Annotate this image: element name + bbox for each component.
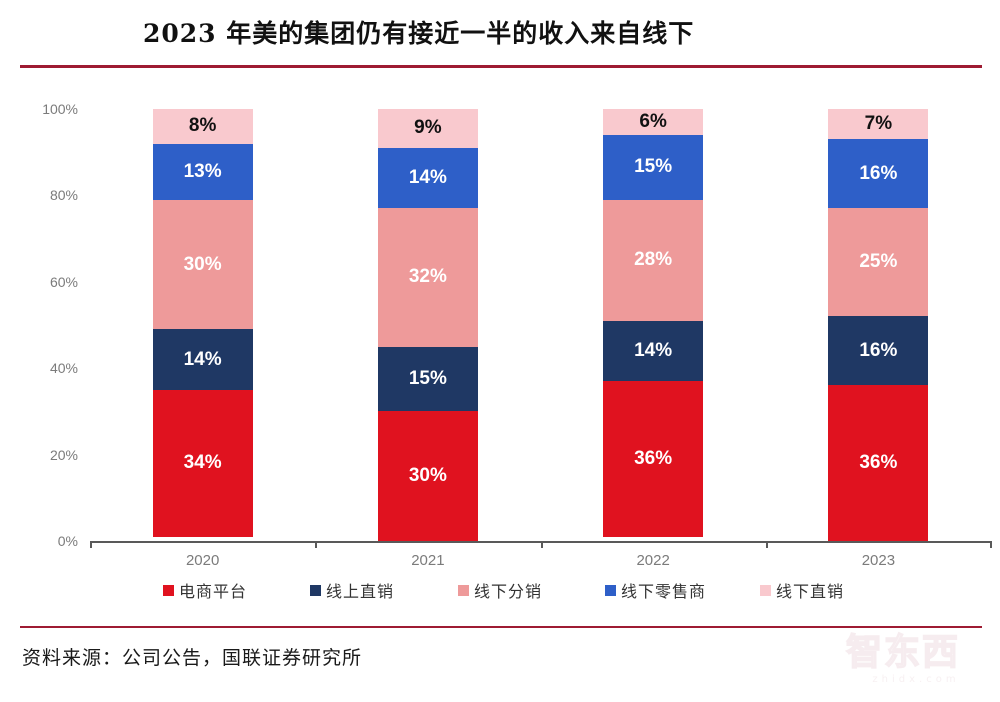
legend-swatch-icon (310, 585, 321, 596)
chart-legend: 电商平台线上直销线下分销线下零售商线下直销 (0, 578, 1000, 602)
bar-segment-label: 36% (634, 448, 672, 470)
bar-segment-2023-电商平台[interactable]: 36% (828, 385, 928, 541)
legend-label: 线下直销 (776, 578, 844, 602)
x-axis-tick (541, 541, 543, 548)
y-axis-tick-100: 100% (22, 101, 78, 117)
bar-segment-2022-线上直销[interactable]: 14% (603, 321, 703, 381)
y-axis-tick-0: 0% (22, 533, 78, 549)
bar-segment-label: 14% (184, 349, 222, 371)
bar-stack-2022[interactable]: 6%15%28%14%36% (603, 109, 703, 541)
watermark: 智东西 zhidx.com (846, 632, 986, 694)
y-axis-tick-60: 60% (22, 274, 78, 290)
watermark-text: 智东西 (846, 632, 986, 674)
page-title: 2023 年美的集团仍有接近一半的收入来自线下 (143, 14, 694, 50)
bar-segment-2021-线上直销[interactable]: 15% (378, 347, 478, 412)
x-axis-label-2022: 2022 (593, 552, 713, 569)
bar-segment-label: 14% (409, 167, 447, 189)
bar-segment-2022-线下分销[interactable]: 28% (603, 200, 703, 321)
bar-segment-label: 30% (184, 254, 222, 276)
source-note: 资料来源：公司公告，国联证券研究所 (22, 643, 362, 670)
legend-item-线上直销[interactable]: 线上直销 (310, 578, 394, 602)
bar-series-container: 8%13%30%14%34%9%14%32%15%30%6%15%28%14%3… (90, 70, 991, 541)
legend-label: 线下零售商 (621, 578, 706, 602)
bar-segment-2023-线下直销[interactable]: 7% (828, 109, 928, 139)
bar-segment-2023-线下分销[interactable]: 25% (828, 208, 928, 316)
y-axis-tick-20: 20% (22, 447, 78, 463)
bar-segment-label: 25% (859, 251, 897, 273)
x-axis-label-2021: 2021 (368, 552, 488, 569)
bar-segment-2020-线上直销[interactable]: 14% (153, 329, 253, 389)
bar-stack-2021[interactable]: 9%14%32%15%30% (378, 109, 478, 541)
bar-segment-label: 13% (184, 161, 222, 183)
bar-segment-2021-线下直销[interactable]: 9% (378, 109, 478, 148)
footer-divider (20, 626, 982, 628)
x-axis-label-2020: 2020 (143, 552, 263, 569)
legend-label: 线上直销 (326, 578, 394, 602)
bar-segment-label: 14% (634, 340, 672, 362)
bar-segment-2020-线下分销[interactable]: 30% (153, 200, 253, 330)
watermark-subtext: zhidx.com (846, 674, 986, 685)
bar-stack-2020[interactable]: 8%13%30%14%34% (153, 109, 253, 541)
title-divider (20, 65, 982, 68)
x-axis-tick (315, 541, 317, 548)
bar-segment-2023-线下零售商[interactable]: 16% (828, 139, 928, 208)
y-axis-tick-labels: 0%20%40%60%80%100% (22, 70, 78, 615)
bar-segment-label: 6% (639, 111, 666, 133)
bar-segment-label: 15% (634, 156, 672, 178)
bar-segment-2022-电商平台[interactable]: 36% (603, 381, 703, 537)
bar-segment-label: 28% (634, 249, 672, 271)
bar-segment-label: 32% (409, 266, 447, 288)
bar-segment-2022-线下直销[interactable]: 6% (603, 109, 703, 135)
bar-segment-2021-线下零售商[interactable]: 14% (378, 148, 478, 208)
bar-segment-2020-电商平台[interactable]: 34% (153, 390, 253, 537)
chart-plot-area: 0%20%40%60%80%100% 8%13%30%14%34%9%14%32… (0, 70, 1000, 615)
x-axis-tick (990, 541, 992, 548)
legend-item-线下直销[interactable]: 线下直销 (760, 578, 844, 602)
bar-segment-2020-线下零售商[interactable]: 13% (153, 144, 253, 200)
x-axis-label-2023: 2023 (818, 552, 938, 569)
bar-segment-label: 15% (409, 368, 447, 390)
bar-segment-label: 34% (184, 452, 222, 474)
legend-swatch-icon (458, 585, 469, 596)
legend-item-线下零售商[interactable]: 线下零售商 (605, 578, 706, 602)
legend-item-电商平台[interactable]: 电商平台 (163, 578, 247, 602)
bar-segment-2023-线上直销[interactable]: 16% (828, 316, 928, 385)
bar-segment-2022-线下零售商[interactable]: 15% (603, 135, 703, 200)
legend-label: 线下分销 (474, 578, 542, 602)
legend-item-线下分销[interactable]: 线下分销 (458, 578, 542, 602)
legend-swatch-icon (163, 585, 174, 596)
bar-segment-label: 9% (414, 117, 441, 139)
x-axis-tick (90, 541, 92, 548)
bar-segment-label: 16% (859, 340, 897, 362)
bar-stack-2023[interactable]: 7%16%25%16%36% (828, 109, 928, 541)
bar-segment-2021-电商平台[interactable]: 30% (378, 411, 478, 541)
bar-segment-label: 16% (859, 163, 897, 185)
y-axis-tick-40: 40% (22, 360, 78, 376)
x-axis-tick (766, 541, 768, 548)
legend-swatch-icon (605, 585, 616, 596)
bar-segment-label: 36% (859, 452, 897, 474)
bar-segment-label: 7% (865, 113, 892, 135)
y-axis-tick-80: 80% (22, 187, 78, 203)
bar-segment-2021-线下分销[interactable]: 32% (378, 208, 478, 346)
legend-swatch-icon (760, 585, 771, 596)
bar-segment-label: 8% (189, 115, 216, 137)
bar-segment-label: 30% (409, 465, 447, 487)
bar-segment-2020-线下直销[interactable]: 8% (153, 109, 253, 144)
legend-label: 电商平台 (179, 578, 247, 602)
title-block: 2023 年美的集团仍有接近一半的收入来自线下 (0, 0, 1000, 70)
